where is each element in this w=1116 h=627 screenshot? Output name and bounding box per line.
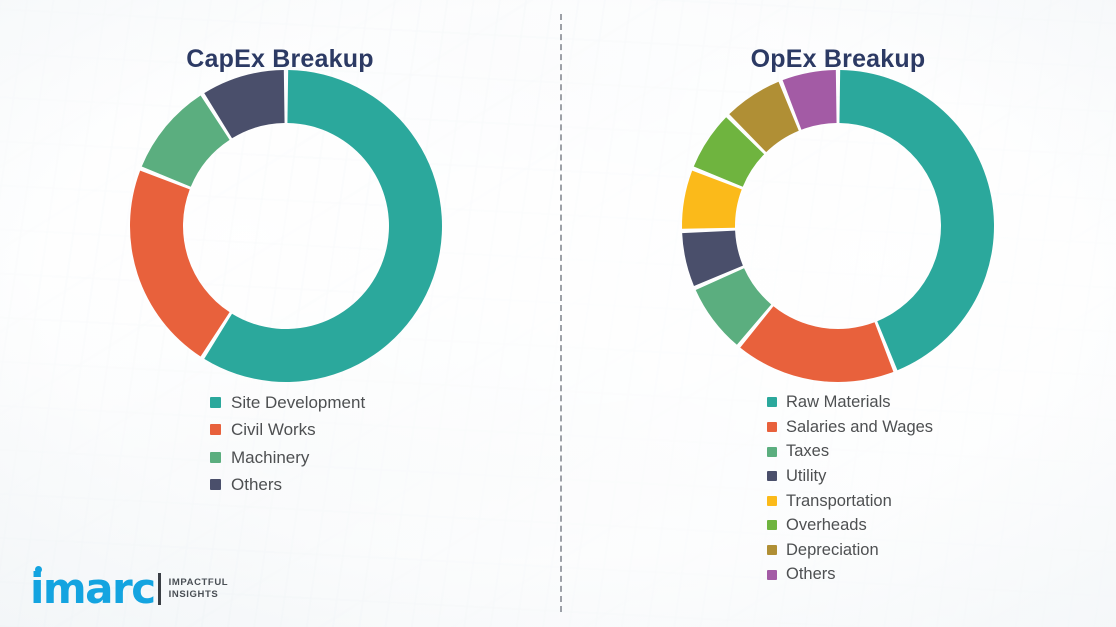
legend-swatch-icon <box>767 545 777 555</box>
opex-donut-chart <box>680 68 996 384</box>
legend-swatch-icon <box>767 422 777 432</box>
opex-panel: OpEx Breakup Raw MaterialsSalaries and W… <box>560 0 1116 627</box>
legend-swatch-icon <box>767 520 777 530</box>
legend-swatch-icon <box>767 447 777 457</box>
capex-slice-group <box>130 70 442 382</box>
legend-item[interactable]: Civil Works <box>210 419 365 440</box>
legend-swatch-icon <box>767 570 777 580</box>
logo-separator-bar <box>158 573 161 605</box>
legend-item-label: Salaries and Wages <box>786 417 933 438</box>
logo-wordmark-text: imarc <box>30 564 155 613</box>
legend-item-label: Utility <box>786 466 826 487</box>
legend-item-label: Others <box>231 474 282 495</box>
logo-wordmark: imarc <box>30 569 155 609</box>
legend-item[interactable]: Raw Materials <box>767 392 933 413</box>
opex-slice-group <box>682 70 994 382</box>
legend-item[interactable]: Utility <box>767 466 933 487</box>
opex-donut-svg <box>680 68 996 384</box>
logo-tagline-line2: INSIGHTS <box>169 589 229 601</box>
legend-item-label: Site Development <box>231 392 365 413</box>
legend-item[interactable]: Depreciation <box>767 540 933 561</box>
legend-item[interactable]: Overheads <box>767 515 933 536</box>
capex-donut-chart <box>128 68 444 384</box>
capex-donut-svg <box>128 68 444 384</box>
donut-slice-civil-works <box>130 171 230 357</box>
logo-dot-icon <box>35 566 42 573</box>
legend-item[interactable]: Taxes <box>767 441 933 462</box>
legend-item-label: Depreciation <box>786 540 879 561</box>
slide-canvas: CapEx Breakup Site DevelopmentCivil Work… <box>0 0 1116 627</box>
donut-slice-salaries-and-wages <box>740 306 893 382</box>
capex-panel: CapEx Breakup Site DevelopmentCivil Work… <box>0 0 560 627</box>
legend-item[interactable]: Transportation <box>767 491 933 512</box>
imarc-logo: imarc IMPACTFUL INSIGHTS <box>30 569 228 609</box>
logo-tagline: IMPACTFUL INSIGHTS <box>169 577 229 601</box>
legend-swatch-icon <box>767 471 777 481</box>
legend-item-label: Civil Works <box>231 419 316 440</box>
legend-swatch-icon <box>210 424 221 435</box>
legend-item[interactable]: Site Development <box>210 392 365 413</box>
legend-swatch-icon <box>210 397 221 408</box>
legend-item-label: Overheads <box>786 515 867 536</box>
legend-item-label: Machinery <box>231 447 309 468</box>
legend-item-label: Taxes <box>786 441 829 462</box>
legend-item-label: Others <box>786 564 836 585</box>
legend-item[interactable]: Others <box>210 474 365 495</box>
legend-item[interactable]: Others <box>767 564 933 585</box>
legend-swatch-icon <box>767 397 777 407</box>
opex-legend: Raw MaterialsSalaries and WagesTaxesUtil… <box>767 392 933 589</box>
logo-tagline-line1: IMPACTFUL <box>169 577 229 589</box>
capex-legend: Site DevelopmentCivil WorksMachineryOthe… <box>210 392 365 501</box>
legend-item-label: Raw Materials <box>786 392 891 413</box>
legend-item-label: Transportation <box>786 491 892 512</box>
legend-swatch-icon <box>210 452 221 463</box>
legend-item[interactable]: Machinery <box>210 447 365 468</box>
legend-item[interactable]: Salaries and Wages <box>767 417 933 438</box>
donut-slice-raw-materials <box>839 70 994 370</box>
legend-swatch-icon <box>767 496 777 506</box>
legend-swatch-icon <box>210 479 221 490</box>
